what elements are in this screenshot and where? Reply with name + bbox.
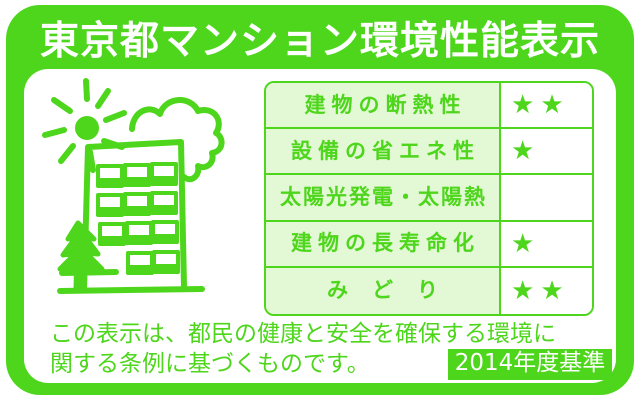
table-row: 建物の長寿命化 ★	[266, 222, 592, 268]
table-row: 太陽光発電・太陽熱	[266, 175, 592, 221]
row-rating-greenery: ★ ★	[501, 268, 592, 314]
title-bar: 東京都マンション環境性能表示	[6, 13, 634, 69]
footer-line-2: 関する条例に基づくものです。	[50, 349, 370, 379]
sun-icon	[45, 81, 124, 170]
building-windows	[98, 164, 178, 274]
table-row: みどり ★ ★	[266, 268, 592, 314]
table-row: 設備の省エネ性 ★	[266, 129, 592, 175]
row-label-energy-saving: 設備の省エネ性	[266, 129, 501, 173]
star-icon: ★	[511, 138, 534, 164]
green-panel: 東京都マンション環境性能表示	[6, 5, 634, 395]
star-icon: ★	[511, 278, 534, 304]
row-rating-energy-saving: ★	[501, 129, 592, 173]
row-label-solar: 太陽光発電・太陽熱	[266, 175, 501, 219]
eco-apartment-building-illustration	[32, 73, 260, 313]
footer-note: この表示は、都民の健康と安全を確保する環境に 関する条例に基づくものです。 20…	[50, 319, 590, 380]
row-label-greenery: みどり	[266, 268, 501, 314]
footer-line-2-container: 関する条例に基づくものです。 2014年度基準	[50, 349, 590, 379]
table-row: 建物の断熱性 ★ ★	[266, 83, 592, 129]
star-icon: ★	[540, 278, 563, 304]
row-label-longevity: 建物の長寿命化	[266, 222, 501, 266]
star-icon: ★	[540, 92, 563, 118]
star-icon: ★	[511, 92, 534, 118]
tokyo-mansion-environmental-performance-label: 東京都マンション環境性能表示	[0, 0, 640, 400]
tree-icon	[60, 223, 116, 289]
performance-table: 建物の断熱性 ★ ★ 設備の省エネ性 ★ 太陽光発電・太陽熱	[264, 81, 594, 316]
row-rating-longevity: ★	[501, 222, 592, 266]
row-rating-solar	[501, 175, 592, 219]
page-title: 東京都マンション環境性能表示	[40, 22, 600, 61]
year-standard-badge: 2014年度基準	[448, 349, 613, 379]
row-rating-insulation: ★ ★	[501, 83, 592, 127]
row-label-insulation: 建物の断熱性	[266, 83, 501, 127]
footer-line-1: この表示は、都民の健康と安全を確保する環境に	[50, 319, 590, 349]
star-icon: ★	[511, 231, 534, 257]
content-card: 建物の断熱性 ★ ★ 設備の省エネ性 ★ 太陽光発電・太陽熱	[24, 69, 616, 383]
